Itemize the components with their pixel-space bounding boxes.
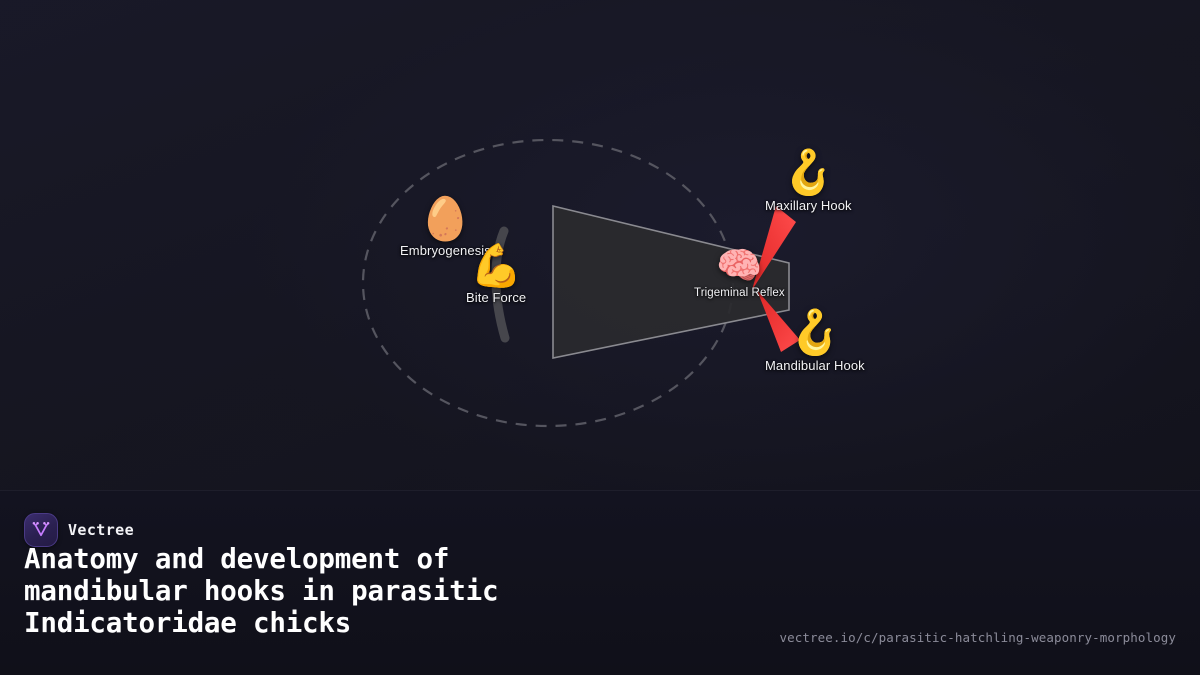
node-trigeminal-reflex[interactable]: 🧠 Trigeminal Reflex <box>694 247 785 299</box>
page-root: 🥚 Embryogenesis 💪 Bite Force 🧠 Trigemina… <box>0 0 1200 675</box>
node-mandibular-hook[interactable]: 🪝 Mandibular Hook <box>765 312 865 373</box>
page-title-line-1: Anatomy and development of <box>24 543 449 575</box>
node-label-bite-force: Bite Force <box>466 290 526 305</box>
node-bite-force[interactable]: 💪 Bite Force <box>466 245 526 305</box>
vectree-v-logo-icon <box>24 513 58 547</box>
page-title-line-2: mandibular hooks in parasitic <box>24 575 498 607</box>
footer: Vectree Anatomy and development of mandi… <box>0 490 1200 675</box>
brain-icon: 🧠 <box>716 247 762 284</box>
diagram-canvas[interactable]: 🥚 Embryogenesis 💪 Bite Force 🧠 Trigemina… <box>0 0 1200 490</box>
node-label-mandibular-hook: Mandibular Hook <box>765 358 865 373</box>
brand-name: Vectree <box>68 521 134 539</box>
egg-icon: 🥚 <box>419 198 471 240</box>
page-title: Anatomy and development of mandibular ho… <box>24 543 784 640</box>
brand[interactable]: Vectree <box>24 513 134 547</box>
hook-icon: 🪝 <box>782 152 836 195</box>
page-title-line-3: Indicatoridae chicks <box>24 607 351 639</box>
node-maxillary-hook[interactable]: 🪝 Maxillary Hook <box>765 152 852 213</box>
hook-icon: 🪝 <box>788 312 842 355</box>
node-label-trigeminal-reflex: Trigeminal Reflex <box>694 287 785 299</box>
diagram-svg <box>0 0 1200 490</box>
node-label-maxillary-hook: Maxillary Hook <box>765 198 852 213</box>
source-url[interactable]: vectree.io/c/parasitic-hatchling-weaponr… <box>779 630 1176 645</box>
flexed-biceps-icon: 💪 <box>470 245 522 287</box>
